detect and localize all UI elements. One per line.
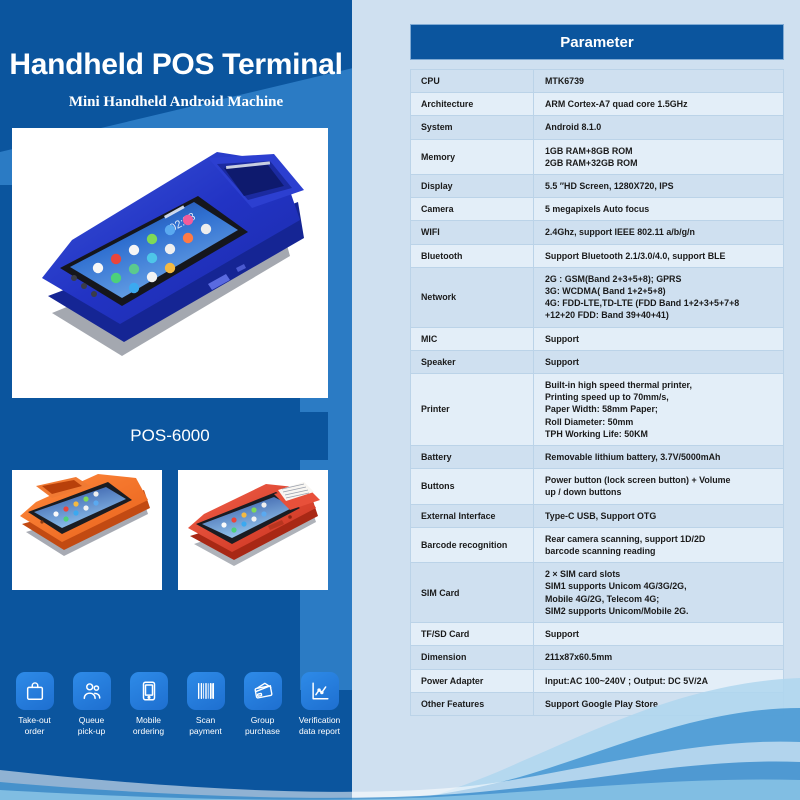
spec-key: Power Adapter <box>411 669 534 692</box>
spec-key: Bluetooth <box>411 244 534 267</box>
spec-value: Support <box>534 327 784 350</box>
table-row: TF/SD CardSupport <box>411 623 784 646</box>
page-subtitle: Mini Handheld Android Machine <box>0 94 352 111</box>
feature-label: Verificationdata report <box>291 715 348 737</box>
spec-key: Camera <box>411 198 534 221</box>
spec-value: MTK6739 <box>534 70 784 93</box>
feature-item-verification-data-report[interactable]: Verificationdata report <box>291 672 348 737</box>
spec-key: Memory <box>411 139 534 174</box>
spec-key: System <box>411 116 534 139</box>
table-row: Other FeaturesSupport Google Play Store <box>411 692 784 715</box>
spec-value: Support <box>534 623 784 646</box>
product-photo-orange <box>12 470 162 590</box>
table-row: WIFI2.4Ghz, support IEEE 802.11 a/b/g/n <box>411 221 784 244</box>
product-photo-red <box>178 470 328 590</box>
table-row: BluetoothSupport Bluetooth 2.1/3.0/4.0, … <box>411 244 784 267</box>
spec-value: 2.4Ghz, support IEEE 802.11 a/b/g/n <box>534 221 784 244</box>
spec-key: Speaker <box>411 350 534 373</box>
feature-label: Queuepick-up <box>63 715 120 737</box>
spec-key: External Interface <box>411 504 534 527</box>
spec-value: Support Google Play Store <box>534 692 784 715</box>
page-title: Handheld POS Terminal <box>0 48 352 82</box>
spec-key: Network <box>411 267 534 327</box>
feature-label: Scanpayment <box>177 715 234 737</box>
spec-value: ARM Cortex-A7 quad core 1.5GHz <box>534 93 784 116</box>
feature-item-queue-pick-up[interactable]: Queuepick-up <box>63 672 120 737</box>
spec-value: 5.5 ″HD Screen, 1280X720, IPS <box>534 175 784 198</box>
product-name-label: POS-6000 <box>12 412 328 460</box>
table-row: BatteryRemovable lithium battery, 3.7V/5… <box>411 446 784 469</box>
spec-key: Display <box>411 175 534 198</box>
spec-key: WIFI <box>411 221 534 244</box>
light-band <box>352 0 408 800</box>
table-row: ButtonsPower button (lock screen button)… <box>411 469 784 504</box>
table-row: Power AdapterInput:AC 100~240V ; Output:… <box>411 669 784 692</box>
table-row: PrinterBuilt-in high speed thermal print… <box>411 374 784 446</box>
feature-item-group-purchase[interactable]: Grouppurchase <box>234 672 291 737</box>
feature-item-mobile-ordering[interactable]: Mobileordering <box>120 672 177 737</box>
spec-value: 2G : GSM(Band 2+3+5+8); GPRS3G: WCDMA( B… <box>534 267 784 327</box>
spec-value: 1GB RAM+8GB ROM2GB RAM+32GB ROM <box>534 139 784 174</box>
credit-card-icon <box>244 672 282 710</box>
mobile-phone-icon <box>130 672 168 710</box>
spec-table-wrap: Parameter CPUMTK6739ArchitectureARM Cort… <box>410 24 784 716</box>
table-row: External InterfaceType-C USB, Support OT… <box>411 504 784 527</box>
spec-value: Power button (lock screen button) + Volu… <box>534 469 784 504</box>
product-photo-main: 02:38 <box>12 128 328 398</box>
spec-value: Removable lithium battery, 3.7V/5000mAh <box>534 446 784 469</box>
spec-key: Printer <box>411 374 534 446</box>
spec-value: Input:AC 100~240V ; Output: DC 5V/2A <box>534 669 784 692</box>
feature-label: Grouppurchase <box>234 715 291 737</box>
spec-key: MIC <box>411 327 534 350</box>
spec-key: Barcode recognition <box>411 527 534 562</box>
product-spec-sheet: Handheld POS Terminal Mini Handheld Andr… <box>0 0 800 800</box>
spec-key: CPU <box>411 70 534 93</box>
table-row: Dimension211x87x60.5mm <box>411 646 784 669</box>
table-row: Display5.5 ″HD Screen, 1280X720, IPS <box>411 175 784 198</box>
barcode-icon <box>187 672 225 710</box>
spec-key: Architecture <box>411 93 534 116</box>
spec-value: Android 8.1.0 <box>534 116 784 139</box>
table-row: Camera5 megapixels Auto focus <box>411 198 784 221</box>
table-row: Barcode recognitionRear camera scanning,… <box>411 527 784 562</box>
table-row: MICSupport <box>411 327 784 350</box>
spec-value: 2 × SIM card slotsSIM1 supports Unicom 4… <box>534 563 784 623</box>
feature-icons-row: Take-outorder Queuepick-up <box>6 672 352 737</box>
spec-key: Battery <box>411 446 534 469</box>
table-row: SpeakerSupport <box>411 350 784 373</box>
people-icon <box>73 672 111 710</box>
spec-value: 5 megapixels Auto focus <box>534 198 784 221</box>
spec-key: SIM Card <box>411 563 534 623</box>
spec-value: 211x87x60.5mm <box>534 646 784 669</box>
spec-table: CPUMTK6739ArchitectureARM Cortex-A7 quad… <box>410 69 784 716</box>
spec-key: Other Features <box>411 692 534 715</box>
spec-value: Support Bluetooth 2.1/3.0/4.0, support B… <box>534 244 784 267</box>
table-row: Memory1GB RAM+8GB ROM2GB RAM+32GB ROM <box>411 139 784 174</box>
spec-value: Support <box>534 350 784 373</box>
spec-value: Type-C USB, Support OTG <box>534 504 784 527</box>
table-row: Network2G : GSM(Band 2+3+5+8); GPRS3G: W… <box>411 267 784 327</box>
spec-key: Buttons <box>411 469 534 504</box>
feature-item-scan-payment[interactable]: Scanpayment <box>177 672 234 737</box>
spec-value: Built-in high speed thermal printer,Prin… <box>534 374 784 446</box>
feature-item-take-out-order[interactable]: Take-outorder <box>6 672 63 737</box>
spec-value: Rear camera scanning, support 1D/2Dbarco… <box>534 527 784 562</box>
spec-key: Dimension <box>411 646 534 669</box>
table-row: SIM Card2 × SIM card slotsSIM1 supports … <box>411 563 784 623</box>
spec-table-header: Parameter <box>410 24 784 60</box>
table-row: SystemAndroid 8.1.0 <box>411 116 784 139</box>
line-chart-icon <box>301 672 339 710</box>
table-row: CPUMTK6739 <box>411 70 784 93</box>
feature-label: Mobileordering <box>120 715 177 737</box>
spec-key: TF/SD Card <box>411 623 534 646</box>
table-row: ArchitectureARM Cortex-A7 quad core 1.5G… <box>411 93 784 116</box>
feature-label: Take-outorder <box>6 715 63 737</box>
shopping-bag-icon <box>16 672 54 710</box>
